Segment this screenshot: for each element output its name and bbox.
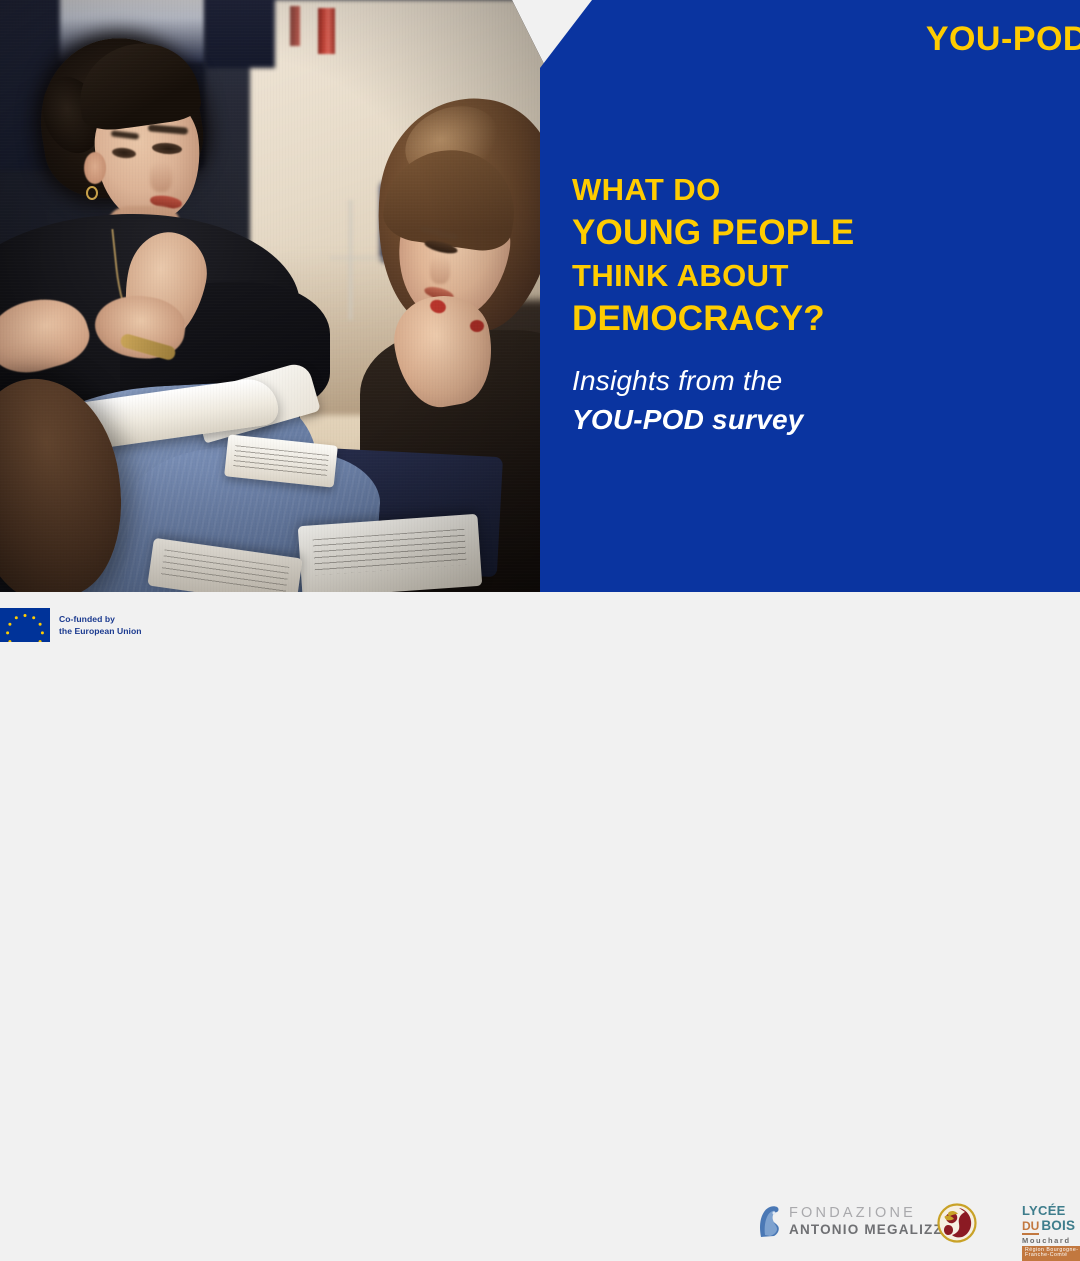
lycee-du-bois-logo: LYCÉE DU BOIS Mouchard Région Bourgogne-… [1022,1204,1080,1261]
photo-person-right-nail-2 [470,320,484,332]
europe-eagle-emblem-icon [937,1203,977,1243]
photo-scene [0,0,545,592]
photo-person-left-nose [150,162,172,192]
photo-person-left-ear [84,152,106,184]
lycee-bois: BOIS [1041,1219,1075,1233]
photo-paper-4 [298,514,483,592]
photo-wall-sign-secondary [290,6,300,46]
eu-text-line-2: the European Union [59,625,142,637]
lycee-du: DU [1022,1220,1039,1235]
eu-flag-icon [0,608,50,642]
subhead-line-2: YOU-POD survey [572,401,1042,440]
photo-person-left-earring [86,186,98,200]
slide-stage: YOU-POD WHAT DO YOUNG PEOPLE THINK ABOUT… [0,0,1080,675]
fondazione-megalizzi-logo: FONDAZIONE ANTONIO MEGALIZZI [757,1204,948,1238]
photo-paper-3-text [233,445,329,477]
hero-photo [0,0,545,592]
eu-cofunding-text: Co-funded by the European Union [59,613,142,638]
lycee-line-2: DU BOIS [1022,1219,1080,1235]
lycee-line-4: Région Bourgogne-Franche-Comté [1022,1246,1080,1260]
photo-paper-4-text [313,529,467,576]
fondazione-megalizzi-text: FONDAZIONE ANTONIO MEGALIZZI [789,1206,948,1237]
headline-line-4: DEMOCRACY? [572,296,1042,342]
eu-cofunding-logo: Co-funded by the European Union [0,608,142,642]
headline-line-1: WHAT DO [572,170,1042,210]
megalizzi-portrait-icon [757,1204,783,1238]
fondazione-line-1: FONDAZIONE [789,1206,948,1221]
photo-chair-mid [205,0,275,68]
headline-line-3: THINK ABOUT [572,256,1042,296]
lycee-line-3: Mouchard [1022,1237,1080,1245]
brand-wordmark: YOU-POD [926,22,1080,56]
photo-person-right-nose [430,256,450,284]
footer-logo-bar: Co-funded by the European Union FONDAZIO… [0,592,1080,675]
headline-block: WHAT DO YOUNG PEOPLE THINK ABOUT DEMOCRA… [572,170,1042,342]
subhead-line-1: Insights from the [572,362,1042,401]
hero-band: YOU-POD WHAT DO YOUNG PEOPLE THINK ABOUT… [0,0,1080,592]
lycee-line-1: LYCÉE [1022,1204,1080,1217]
photo-paper-5-text [161,549,289,592]
photo-wall-sign [318,8,335,54]
fondazione-line-2: ANTONIO MEGALIZZI [789,1223,948,1237]
subhead-block: Insights from the YOU-POD survey [572,362,1042,439]
eu-text-line-1: Co-funded by [59,613,142,625]
headline-line-2: YOUNG PEOPLE [572,210,1042,256]
